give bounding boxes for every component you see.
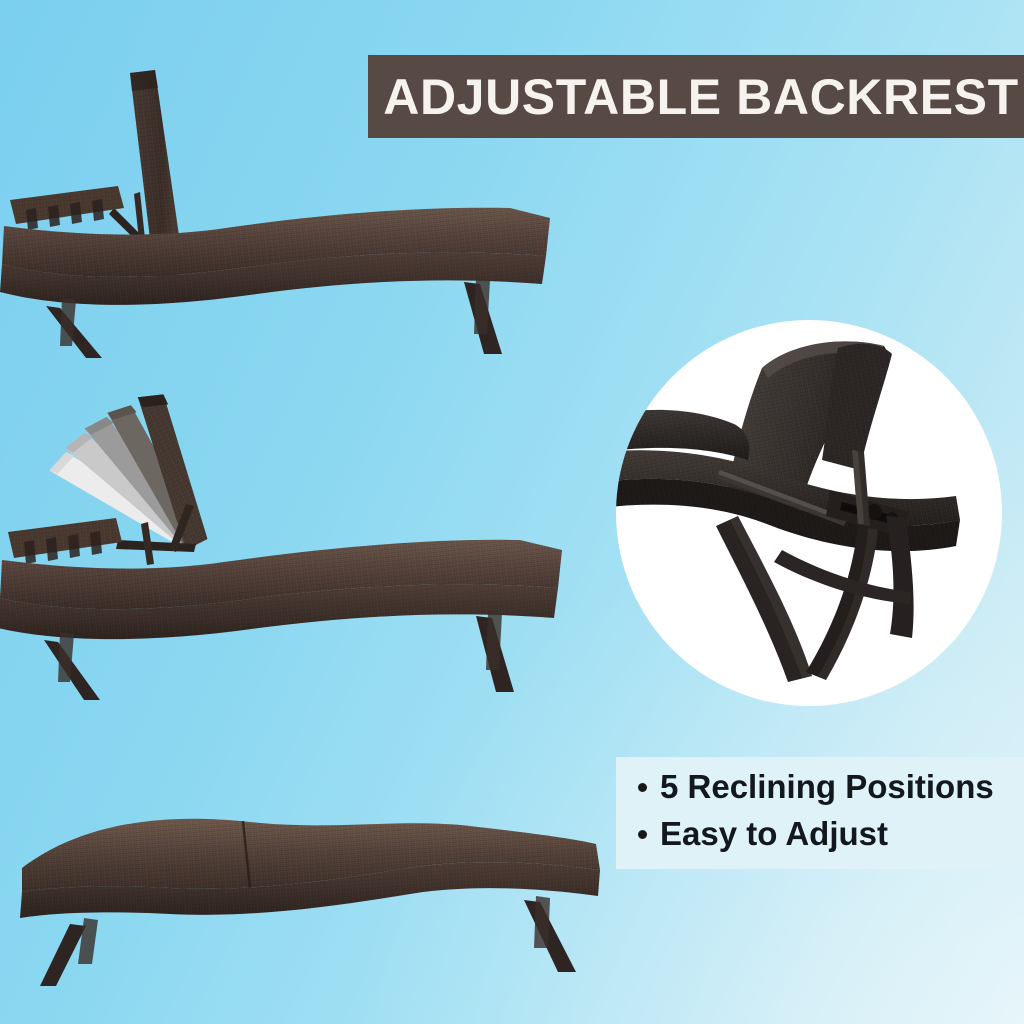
banner-title: ADJUSTABLE BACKREST	[373, 72, 1019, 122]
lounger-image-flat	[0, 796, 620, 996]
product-feature-graphic: ADJUSTABLE BACKREST 5 Reclining Position…	[0, 0, 1024, 1024]
bullet-label-easy-to-adjust: Easy to Adjust	[660, 814, 888, 855]
backrest-closeup-inset	[616, 320, 1002, 706]
bullet-dot-icon	[638, 830, 647, 839]
feature-bullet-panel: 5 Reclining Positions Easy to Adjust	[616, 757, 1024, 869]
list-item: Easy to Adjust	[638, 814, 1024, 855]
headrest-slat-frame	[10, 186, 124, 230]
lounger-image-reclining-range	[0, 392, 590, 704]
header-banner: ADJUSTABLE BACKREST	[368, 55, 1024, 138]
bullet-dot-icon	[638, 783, 647, 792]
bullet-label-reclining-positions: 5 Reclining Positions	[660, 767, 994, 808]
list-item: 5 Reclining Positions	[638, 767, 1024, 808]
headrest-slat-frame	[8, 518, 122, 564]
